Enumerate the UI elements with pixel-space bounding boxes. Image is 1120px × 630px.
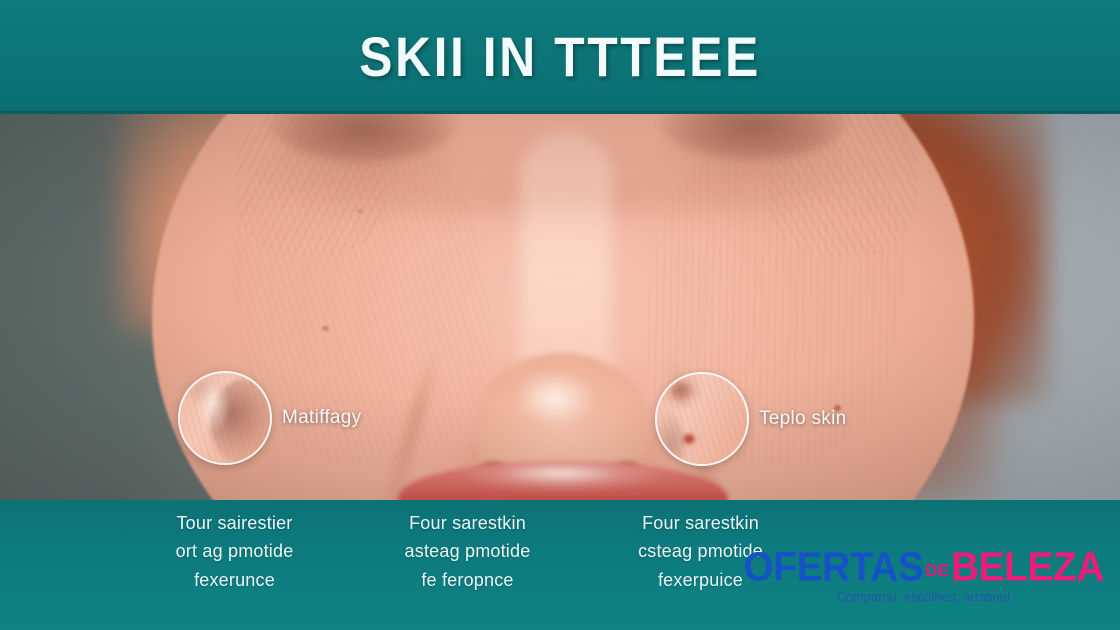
benefit-item-2: Four sarestkin asteag pmotide fe feropnc… <box>351 509 584 594</box>
benefit-line: ort ag pmotide <box>118 537 351 565</box>
logo-tagline: Comparou, escolheu, arrasou! <box>743 591 1104 604</box>
promo-poster: Matiffagy Teplo skin SKII IN TTTEEE Tour… <box>0 0 1120 630</box>
zoom-blemish-upper <box>671 382 693 402</box>
benefit-line: Tour sairestier <box>118 509 351 537</box>
photo-vignette <box>0 113 1120 501</box>
benefit-line: Four sarestkin <box>351 509 584 537</box>
callout-zoom-circle <box>178 371 272 465</box>
lip-highlight <box>500 465 620 481</box>
callout-label: Teplo skin <box>759 408 847 430</box>
logo-part-beleza: BELEZA <box>951 547 1104 588</box>
footer-band: Tour sairestier ort ag pmotide fexerunce… <box>0 500 1120 630</box>
benefit-item-1: Tour sairestier ort ag pmotide fexerunce <box>118 509 351 594</box>
logo-part-ofertas: OFERTAS <box>743 547 923 588</box>
benefit-line: fexerunce <box>118 566 351 594</box>
title-band: SKII IN TTTEEE <box>0 0 1120 114</box>
logo-part-de: DE <box>923 562 951 579</box>
callout-matiffagy[interactable]: Matiffagy <box>178 371 361 465</box>
face-photo <box>0 113 1120 501</box>
zoom-nose-highlight <box>196 373 230 433</box>
page-title: SKII IN TTTEEE <box>359 25 761 90</box>
benefit-line: Four sarestkin <box>584 509 817 537</box>
callout-teplo-skin[interactable]: Teplo skin <box>655 372 847 466</box>
benefit-line: fe feropnce <box>351 566 584 594</box>
logo-wordmark: OFERTAS DE BELEZA <box>743 548 1104 587</box>
brand-logo[interactable]: OFERTAS DE BELEZA Comparou, escolheu, ar… <box>743 548 1104 604</box>
callout-label: Matiffagy <box>282 407 361 429</box>
benefits-list: Tour sairestier ort ag pmotide fexerunce… <box>118 509 818 594</box>
callout-zoom-circle <box>655 372 749 466</box>
benefit-line: asteag pmotide <box>351 537 584 565</box>
